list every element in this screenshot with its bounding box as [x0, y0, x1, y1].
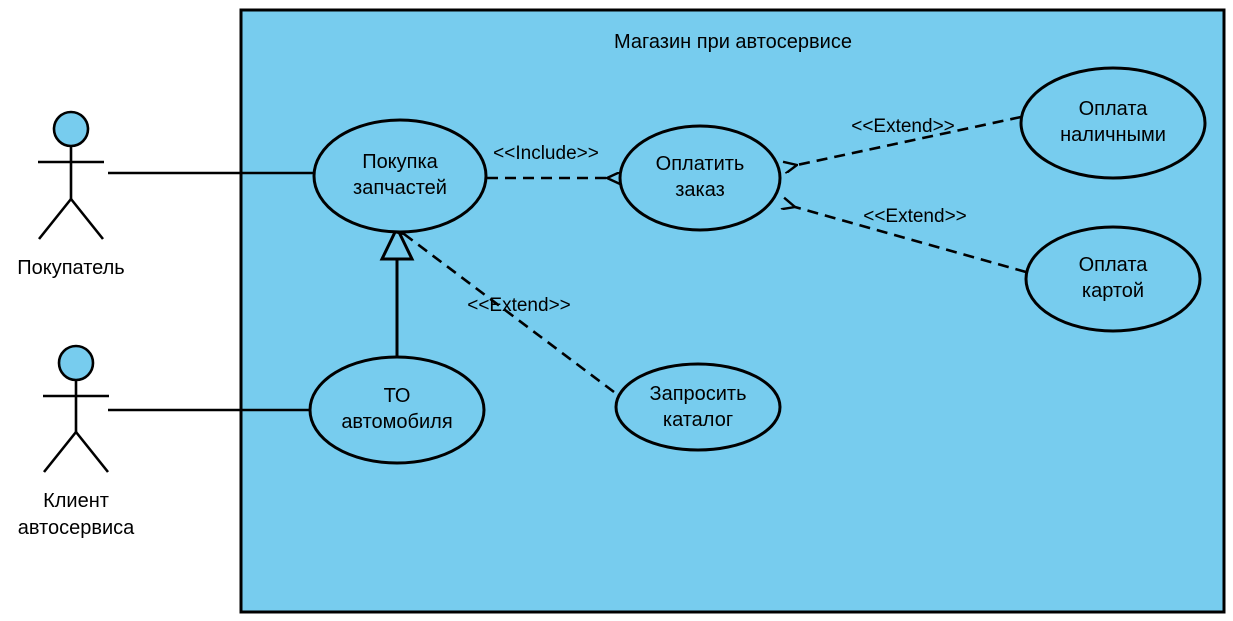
- extend-stereotype-label-card: <<Extend>>: [863, 206, 967, 227]
- use-case-pay-cash-label-line2: наличными: [1060, 124, 1166, 146]
- extend-stereotype-label-cash: <<Extend>>: [851, 116, 955, 137]
- use-case-pay-order[interactable]: Оплатить заказ: [620, 126, 780, 230]
- use-case-buy-parts-label-line1: Покупка: [362, 151, 438, 173]
- use-case-buy-parts[interactable]: Покупка запчастей: [314, 120, 486, 232]
- actor-buyer-leg-left: [39, 199, 71, 239]
- actor-service-client-leg-left: [44, 432, 76, 472]
- actor-buyer-label: Покупатель: [17, 257, 124, 279]
- actor-buyer-leg-right: [71, 199, 103, 239]
- use-case-pay-order-label-line2: заказ: [675, 179, 725, 201]
- actor-service-client-head-icon: [59, 346, 93, 380]
- actor-buyer[interactable]: Покупатель: [17, 112, 124, 279]
- use-case-pay-order-label-line1: Оплатить: [656, 153, 745, 175]
- use-case-diagram-canvas: Магазин при автосервисе <<Include>> <<Ex…: [0, 0, 1233, 621]
- actor-service-client-label-line2: автосервиса: [18, 517, 135, 539]
- actor-service-client[interactable]: Клиент автосервиса: [18, 346, 135, 539]
- use-case-request-catalog-label-line1: Запросить: [649, 383, 746, 405]
- use-case-request-catalog-label-line2: каталог: [663, 409, 733, 431]
- use-case-buy-parts-label-line2: запчастей: [353, 177, 447, 199]
- actor-buyer-head-icon: [54, 112, 88, 146]
- use-case-pay-card[interactable]: Оплата картой: [1026, 227, 1200, 331]
- system-boundary-title: Магазин при автосервисе: [614, 31, 852, 53]
- use-case-pay-cash-ellipse[interactable]: [1021, 68, 1205, 178]
- include-stereotype-label: <<Include>>: [493, 143, 599, 164]
- use-case-request-catalog[interactable]: Запросить каталог: [616, 364, 780, 450]
- use-case-car-maintenance-ellipse[interactable]: [310, 357, 484, 463]
- use-case-pay-cash[interactable]: Оплата наличными: [1021, 68, 1205, 178]
- use-case-car-maintenance-label-line2: автомобиля: [341, 411, 452, 433]
- use-case-car-maintenance-label-line1: ТО: [384, 385, 411, 407]
- use-case-buy-parts-ellipse[interactable]: [314, 120, 486, 232]
- use-case-pay-order-ellipse[interactable]: [620, 126, 780, 230]
- use-case-pay-cash-label-line1: Оплата: [1079, 98, 1149, 120]
- diagram-surface: Магазин при автосервисе <<Include>> <<Ex…: [0, 0, 1233, 621]
- extend-stereotype-label-catalog: <<Extend>>: [467, 295, 571, 316]
- use-case-pay-card-ellipse[interactable]: [1026, 227, 1200, 331]
- use-case-car-maintenance[interactable]: ТО автомобиля: [310, 357, 484, 463]
- actor-service-client-leg-right: [76, 432, 108, 472]
- actor-service-client-label-line1: Клиент: [43, 490, 109, 512]
- use-case-pay-card-label-line2: картой: [1082, 280, 1144, 302]
- use-case-request-catalog-ellipse[interactable]: [616, 364, 780, 450]
- use-case-pay-card-label-line1: Оплата: [1079, 254, 1149, 276]
